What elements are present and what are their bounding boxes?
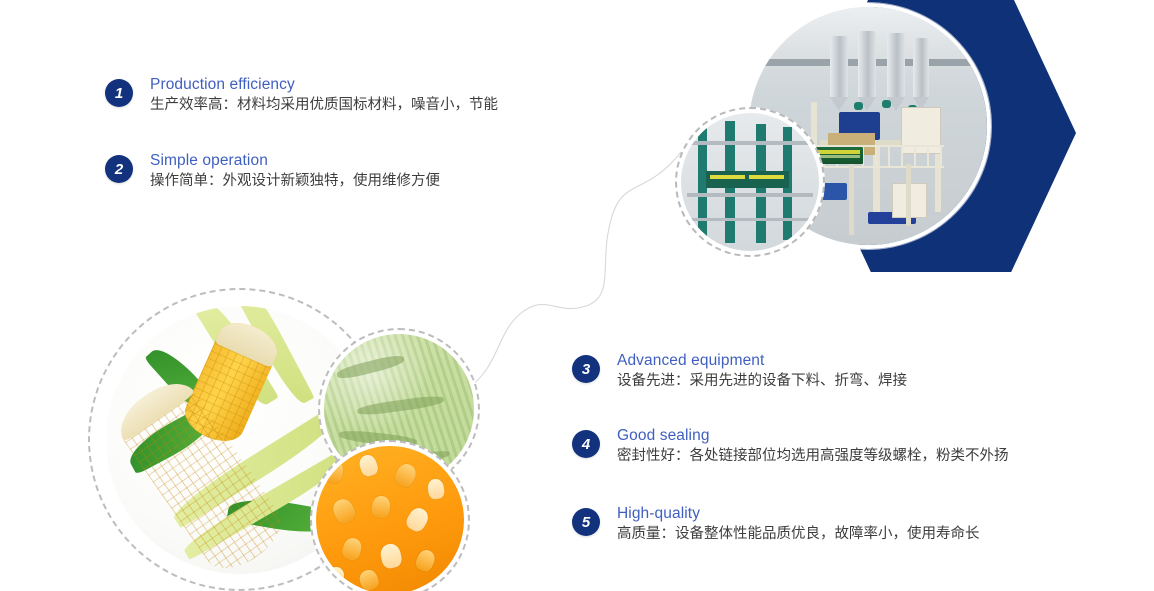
feature-item-1[interactable]: 1 Production efficiency 生产效率高：材料均采用优质国标材… [105, 79, 498, 116]
feature-title: Advanced equipment [617, 351, 907, 370]
hexagon-secondary-photo [675, 107, 825, 257]
feature-description: 设备先进：采用先进的设备下料、折弯、焊接 [617, 370, 907, 392]
feature-number-badge: 3 [572, 355, 600, 383]
feature-number-badge: 1 [105, 79, 133, 107]
feature-number-badge: 4 [572, 430, 600, 458]
feature-item-5[interactable]: 5 High-quality 高质量：设备整体性能品质优良，故障率小，使用寿命长 [572, 508, 980, 545]
feature-description: 密封性好：各处链接部位均选用高强度等级螺栓，粉类不外扬 [617, 445, 1009, 467]
hexagon-media-group [806, 0, 1076, 272]
feature-item-3[interactable]: 3 Advanced equipment 设备先进：采用先进的设备下料、折弯、焊… [572, 355, 907, 392]
feature-description: 生产效率高：材料均采用优质国标材料，噪音小，节能 [150, 94, 498, 116]
feature-description: 操作简单：外观设计新颖独特，使用维修方便 [150, 170, 440, 192]
feature-number-badge: 5 [572, 508, 600, 536]
feature-title: Simple operation [150, 151, 440, 170]
feature-description: 高质量：设备整体性能品质优良，故障率小，使用寿命长 [617, 523, 980, 545]
feature-number-badge: 2 [105, 155, 133, 183]
promo-infographic: 1 Production efficiency 生产效率高：材料均采用优质国标材… [0, 0, 1154, 591]
feature-title: High-quality [617, 504, 980, 523]
feature-item-2[interactable]: 2 Simple operation 操作简单：外观设计新颖独特，使用维修方便 [105, 155, 440, 192]
feature-title: Production efficiency [150, 75, 498, 94]
feature-item-4[interactable]: 4 Good sealing 密封性好：各处链接部位均选用高强度等级螺栓，粉类不… [572, 430, 1009, 467]
corn-kernels-photo [310, 440, 470, 591]
feature-title: Good sealing [617, 426, 1009, 445]
